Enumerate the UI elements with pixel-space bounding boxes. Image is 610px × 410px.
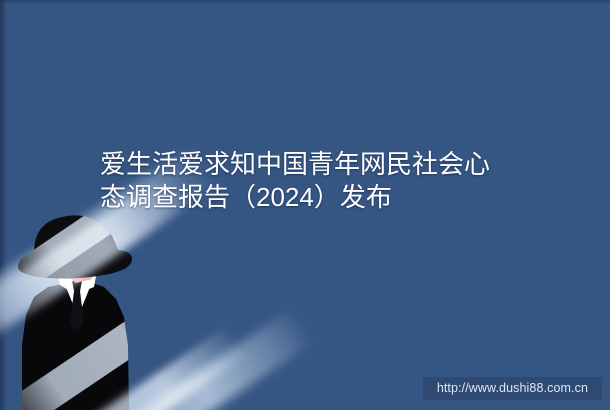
headline-title: 爱生活爱求知中国青年网民社会心 态调查报告（2024）发布 [100, 148, 580, 214]
man-in-hat-illustration [0, 195, 200, 410]
suit-body [0, 281, 200, 410]
watermark-url: http://www.dushi88.com.cn [423, 377, 602, 400]
top-edge-shade [0, 0, 610, 4]
headline-line-2: 态调查报告（2024）发布 [100, 181, 580, 214]
headline-line-1: 爱生活爱求知中国青年网民社会心 [100, 148, 580, 181]
news-banner: 爱生活爱求知中国青年网民社会心 态调查报告（2024）发布 http://www… [0, 0, 610, 410]
